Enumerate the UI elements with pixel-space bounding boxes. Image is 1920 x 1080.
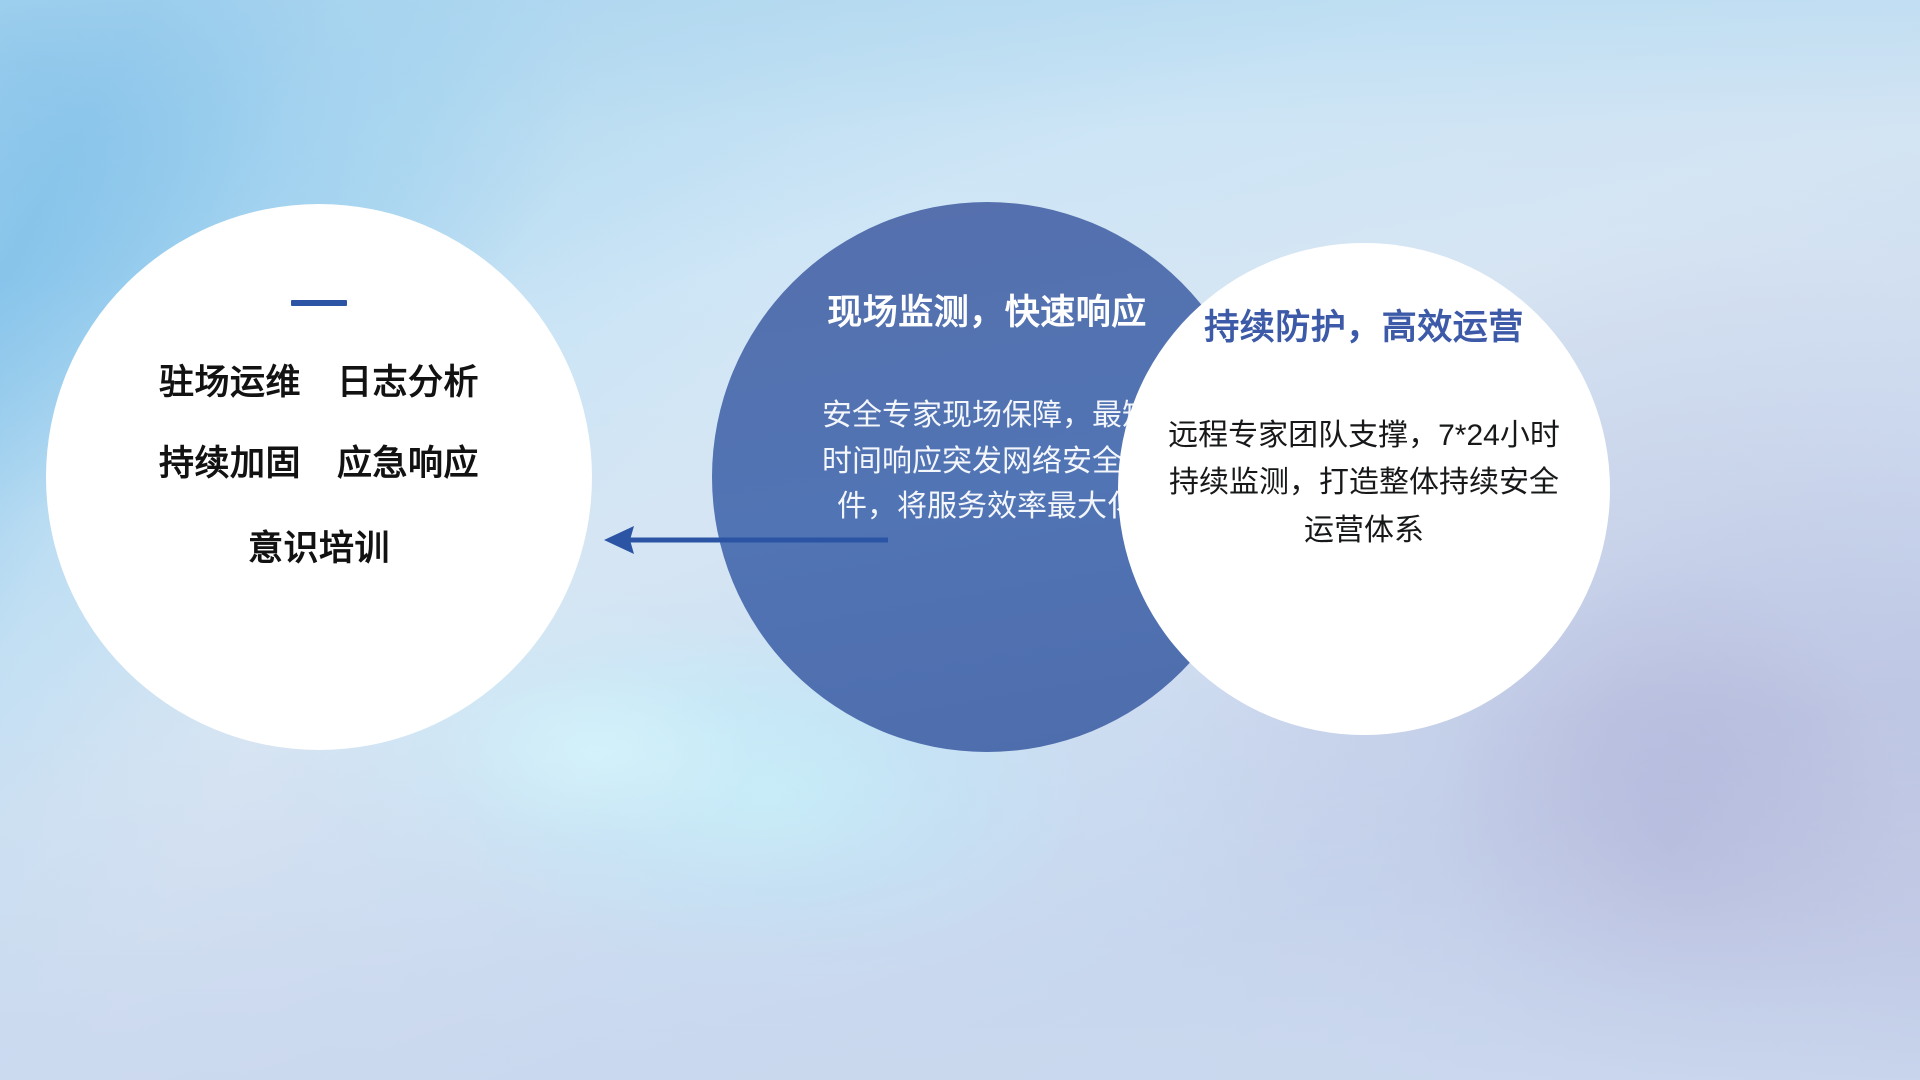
continuous-protection-circle: 持续防护，高效运营 远程专家团队支撑，7*24小时持续监测，打造整体持续安全运营…	[1118, 243, 1610, 735]
keyword-grid: 驻场运维 日志分析 持续加固 应急响应 意识培训	[159, 354, 479, 571]
keyword-item: 应急响应	[337, 435, 479, 486]
accent-dash-icon	[291, 300, 347, 306]
onsite-monitoring-title: 现场监测，快速响应	[827, 284, 1147, 335]
keyword-row: 持续加固 应急响应	[159, 435, 479, 486]
continuous-protection-body: 远程专家团队支撑，7*24小时持续监测，打造整体持续安全运营体系	[1158, 412, 1570, 554]
capability-circle: 驻场运维 日志分析 持续加固 应急响应 意识培训	[46, 204, 592, 750]
flow-arrow-left-icon	[600, 510, 890, 570]
continuous-protection-title: 持续防护，高效运营	[1204, 299, 1524, 350]
keyword-item: 意识培训	[248, 520, 390, 571]
keyword-item: 持续加固	[159, 435, 301, 486]
keyword-row: 意识培训	[248, 520, 390, 571]
keyword-row: 驻场运维 日志分析	[159, 354, 479, 405]
slide-canvas: 驻场运维 日志分析 持续加固 应急响应 意识培训 现场监测，快速响应 安全专家现…	[0, 0, 1920, 1080]
keyword-item: 日志分析	[337, 354, 479, 405]
keyword-item: 驻场运维	[159, 354, 301, 405]
